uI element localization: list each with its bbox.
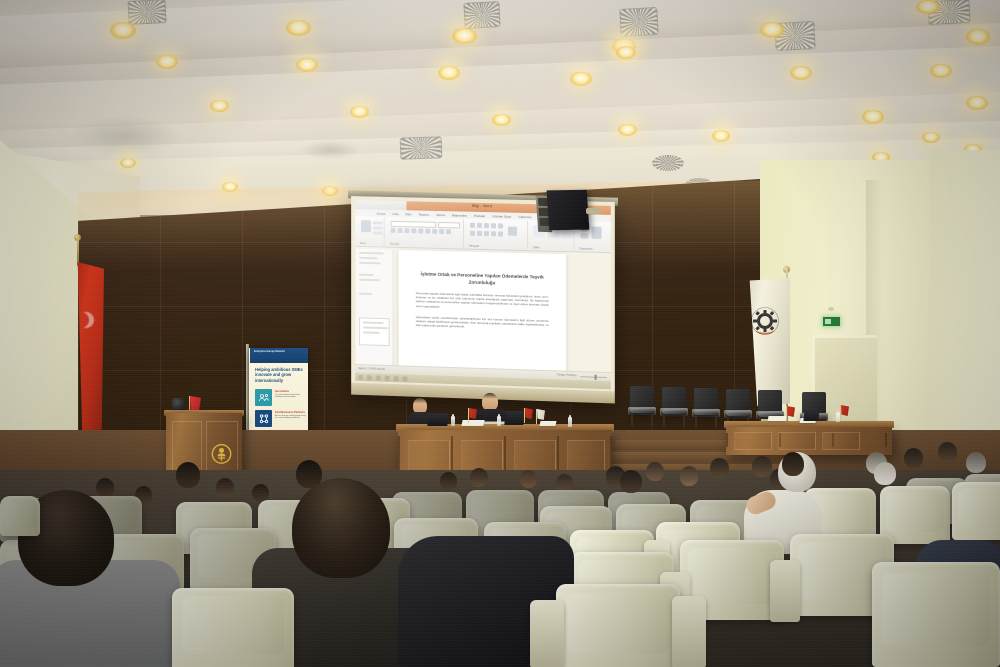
ceiling-downlight bbox=[110, 22, 136, 39]
water-bottle bbox=[836, 412, 840, 422]
ceiling-downlight bbox=[120, 158, 136, 168]
flag-pole bbox=[468, 408, 469, 423]
attendee-head bbox=[782, 452, 804, 476]
ribbon-tab[interactable]: Başvurular bbox=[452, 213, 467, 217]
laptop bbox=[427, 413, 448, 426]
seat-armrest bbox=[770, 560, 800, 622]
ceiling-downlight bbox=[616, 46, 636, 59]
navigation-thumbnail[interactable] bbox=[359, 317, 390, 346]
ribbon-group-label: Yazı Tipi bbox=[390, 243, 400, 246]
attendee-head bbox=[966, 452, 986, 473]
attendee-head bbox=[620, 470, 642, 493]
ceiling-downlight bbox=[916, 0, 940, 14]
ribbon-group-font[interactable]: Yazı Tipi bbox=[387, 218, 464, 248]
attendee-head bbox=[680, 466, 698, 486]
air-vent-icon bbox=[463, 1, 500, 29]
people-network-icon bbox=[255, 389, 272, 406]
navigation-pane[interactable] bbox=[356, 249, 394, 366]
partners-icon bbox=[255, 410, 272, 427]
banner-headline: Helping ambitious SMEs innovate and grow… bbox=[255, 367, 304, 383]
ceiling-downlight bbox=[222, 182, 238, 192]
podium-microphone bbox=[172, 398, 184, 410]
water-bottle bbox=[568, 417, 572, 427]
laptop bbox=[504, 411, 524, 425]
ceiling-downlight bbox=[492, 114, 511, 126]
flag-pole bbox=[840, 405, 841, 420]
flag-pole bbox=[536, 409, 537, 424]
taskbar-start-icon[interactable] bbox=[358, 374, 363, 379]
taskbar-word-icon[interactable] bbox=[385, 375, 390, 380]
turkish-table-flag bbox=[841, 405, 849, 416]
ribbon-tab[interactable]: Postalar bbox=[474, 213, 485, 217]
ceiling-downlight bbox=[286, 20, 311, 36]
ribbon-tab[interactable]: Ekle bbox=[406, 212, 412, 216]
attendee-head bbox=[520, 470, 537, 488]
banner-item-text: Find Business Partners Across Europe and… bbox=[275, 411, 307, 420]
attendee-head bbox=[752, 456, 772, 477]
taskbar-browser-icon[interactable] bbox=[394, 376, 399, 381]
ribbon-group-label: Pano bbox=[360, 242, 366, 245]
flag-pole bbox=[786, 406, 787, 421]
ribbon-group-clipboard[interactable]: Pano bbox=[357, 217, 385, 245]
stage-chair bbox=[692, 388, 720, 428]
papers bbox=[461, 420, 484, 426]
wall-speaker bbox=[547, 190, 590, 231]
ribbon-group-label: Paragraf bbox=[469, 245, 479, 248]
attendee-head bbox=[646, 462, 664, 481]
ceiling-downlight bbox=[570, 72, 592, 86]
flag-pole bbox=[77, 238, 79, 266]
exit-sign bbox=[822, 316, 841, 327]
word-title-label: Bilgi - Word bbox=[472, 204, 492, 208]
attendee-head bbox=[292, 478, 390, 578]
auditorium-seat bbox=[880, 486, 950, 544]
seat-armrest bbox=[672, 596, 706, 667]
seat-armrest bbox=[530, 600, 564, 667]
ceiling-downlight bbox=[712, 130, 730, 142]
flag-pole bbox=[524, 408, 525, 423]
taskbar-search-icon[interactable] bbox=[367, 375, 372, 380]
ribbon-tab[interactable]: Görünüm bbox=[518, 214, 531, 218]
air-vent-icon bbox=[127, 0, 166, 25]
banner-item: Find Business Partners Across Europe and… bbox=[255, 410, 307, 428]
ceiling-downlight bbox=[930, 64, 952, 78]
ceiling-downlight bbox=[156, 55, 178, 69]
turkish-table-flag bbox=[525, 408, 533, 419]
ceiling-downlight bbox=[790, 66, 812, 80]
laptop bbox=[803, 410, 819, 421]
auditorium-seat bbox=[872, 562, 1000, 667]
attendee-head bbox=[710, 458, 729, 478]
ceiling-downlight bbox=[452, 28, 477, 44]
zoom-slider-track[interactable] bbox=[580, 376, 606, 378]
status-page-count: Sayfa 1 / 3 842 sözcük bbox=[358, 367, 385, 371]
air-vent-icon bbox=[652, 155, 684, 171]
ribbon-group-label: Düzenleme bbox=[579, 247, 592, 250]
document-paragraph: Personele yapılan ödemelerle ilgili olar… bbox=[416, 291, 549, 312]
ceiling-stain bbox=[70, 115, 180, 157]
document-paragraph: İşletmelerin teşvik unsurlarından yararl… bbox=[416, 315, 549, 332]
zoom-slider-thumb[interactable] bbox=[595, 375, 597, 380]
ribbon-tab[interactable]: Giriş bbox=[392, 211, 398, 215]
air-vent-icon bbox=[619, 7, 658, 37]
word-document-page[interactable]: İşletme Ortak ve Personeline Yapılan Öde… bbox=[398, 250, 567, 372]
ribbon-tab[interactable]: Dosya bbox=[377, 211, 386, 215]
white-table-flag bbox=[537, 409, 545, 420]
banner-logo-label: Enterprise Europe Network bbox=[254, 351, 285, 354]
ceiling-downlight bbox=[862, 110, 884, 124]
conference-hall-photo: Bilgi - Word Dosya Giriş Ekle Tasarım Dü… bbox=[0, 0, 1000, 667]
turkish-table-flag bbox=[787, 406, 795, 417]
stage-chair bbox=[660, 387, 688, 427]
auditorium-seat bbox=[172, 588, 294, 667]
ceiling-downlight bbox=[296, 58, 318, 72]
smoke-detector-icon bbox=[828, 307, 834, 311]
crescent-icon bbox=[78, 312, 94, 328]
ribbon-group-paragraph[interactable]: Paragraf bbox=[466, 220, 528, 250]
chamber-emblem-icon bbox=[210, 441, 233, 468]
ceiling-downlight bbox=[618, 124, 637, 136]
auditorium-seat bbox=[952, 482, 1000, 540]
attendee-head bbox=[938, 442, 957, 462]
ceiling-downlight bbox=[350, 106, 369, 118]
ceiling-downlight bbox=[438, 66, 460, 80]
ceiling-stain bbox=[300, 140, 360, 160]
ceiling-downlight bbox=[922, 132, 940, 143]
banner-item-subtitle: Across Europe and beyond using our match… bbox=[275, 415, 307, 420]
banner-item-text: Get Advice On international expansion, f… bbox=[275, 390, 307, 399]
auditorium-seat bbox=[0, 496, 40, 536]
attendee-head bbox=[176, 462, 200, 488]
ribbon-tab[interactable]: Gözden Geçir bbox=[492, 214, 511, 218]
turkish-table-flag bbox=[469, 408, 477, 419]
attendee-head bbox=[904, 448, 923, 468]
water-bottle bbox=[451, 416, 455, 426]
ceiling-downlight bbox=[760, 22, 784, 38]
ceiling-downlight bbox=[966, 29, 990, 45]
stage-chair bbox=[628, 386, 656, 426]
banner-item-subtitle: On international expansion, funding and … bbox=[275, 394, 307, 399]
document-title: İşletme Ortak ve Personeline Yapılan Öde… bbox=[414, 270, 551, 288]
chamber-gear-emblem-icon bbox=[750, 306, 780, 340]
attendee-head bbox=[440, 472, 457, 490]
attendee-head bbox=[874, 462, 896, 485]
side-table bbox=[726, 427, 892, 455]
banner-item-title: Get Advice bbox=[275, 390, 307, 393]
attendee-head bbox=[470, 468, 488, 487]
water-bottle bbox=[497, 416, 501, 426]
banner-item-title: Find Business Partners bbox=[275, 411, 307, 414]
ceiling-downlight bbox=[210, 100, 229, 112]
speaker-mount-bracket bbox=[586, 208, 600, 214]
turkish-table-flag bbox=[190, 396, 201, 411]
ribbon-group-label: Stiller bbox=[533, 246, 540, 249]
ribbon-tab[interactable]: Tasarım bbox=[418, 212, 429, 216]
banner-header: Enterprise Europe Network bbox=[250, 348, 308, 363]
auditorium-seat bbox=[556, 584, 680, 667]
papers bbox=[539, 421, 556, 426]
banner-item: Get Advice On international expansion, f… bbox=[255, 389, 307, 407]
taskbar-explorer-icon[interactable] bbox=[376, 375, 381, 380]
attendee-head bbox=[96, 478, 114, 497]
air-vent-icon bbox=[400, 136, 443, 159]
taskbar-media-icon[interactable] bbox=[402, 376, 407, 381]
ceiling-downlight bbox=[966, 96, 988, 110]
ribbon-tab[interactable]: Düzen bbox=[436, 212, 445, 216]
papers bbox=[767, 416, 786, 421]
ceiling-downlight bbox=[322, 186, 338, 196]
attendee-head bbox=[216, 478, 234, 497]
status-language: Türkçe (Türkiye) bbox=[557, 373, 577, 377]
